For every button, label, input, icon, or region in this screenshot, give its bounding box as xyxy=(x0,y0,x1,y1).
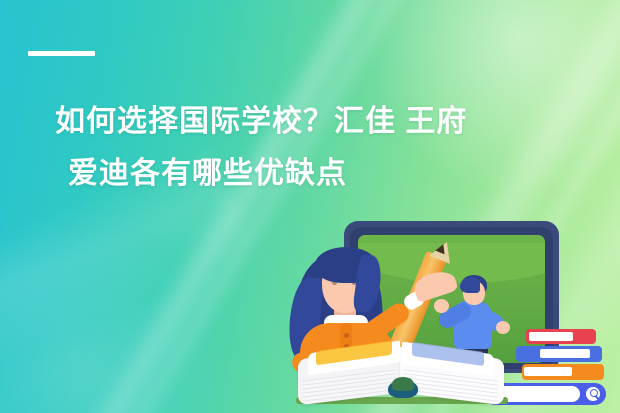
page-title-line-2: 爱迪各有哪些优缺点 xyxy=(55,148,575,200)
book-page-edge xyxy=(540,349,590,358)
search-icon xyxy=(590,389,598,397)
book-page-edge xyxy=(529,332,573,341)
book-middle xyxy=(516,346,602,362)
page-title: 如何选择国际学校？汇佳 王府 爱迪各有哪些优缺点 xyxy=(55,96,575,200)
bottom-left-glow xyxy=(0,223,230,413)
boy-hair-front xyxy=(460,277,480,293)
page-title-line-1: 如何选择国际学校？汇佳 王府 xyxy=(55,105,467,138)
banner-image: 如何选择国际学校？汇佳 王府 爱迪各有哪些优缺点 xyxy=(0,0,620,413)
book-bottom xyxy=(522,364,604,380)
book-page-edge xyxy=(524,367,572,376)
title-accent-rule xyxy=(28,51,95,56)
education-illustration xyxy=(278,215,620,413)
book-top xyxy=(526,329,596,344)
boy-hand-right xyxy=(496,321,510,334)
open-book-spine-inner xyxy=(392,377,414,391)
boy-hand-left xyxy=(434,299,449,313)
woman-sweater-button xyxy=(344,333,349,338)
